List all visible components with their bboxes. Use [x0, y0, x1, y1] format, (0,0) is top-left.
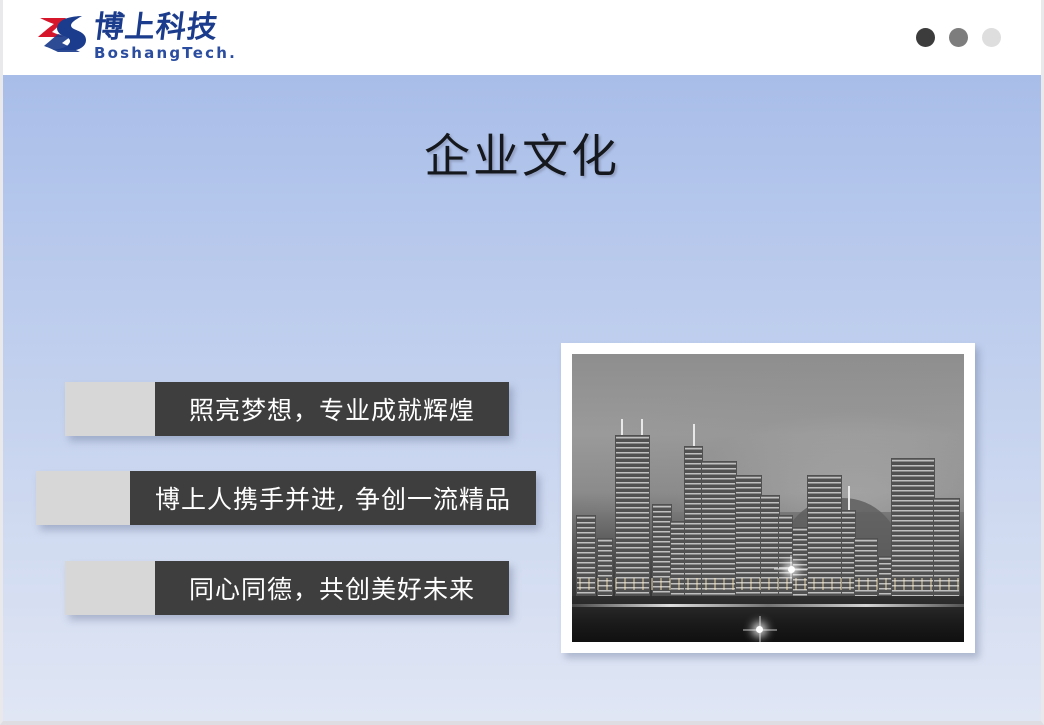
- photo-road-lights: [572, 604, 964, 607]
- slogan-body-3: 同心同德，共创美好未来: [155, 561, 509, 615]
- logo-wordmark: 博上科技 BoshangTech.: [94, 13, 237, 61]
- photo-light-flare: [788, 566, 795, 573]
- company-logo[interactable]: 博上科技 BoshangTech.: [36, 10, 237, 64]
- slogan-text-2: 博上人携手并进, 争创一流精品: [155, 480, 511, 516]
- photo-foreground: [572, 596, 964, 642]
- slogan-body-1: 照亮梦想，专业成就辉煌: [155, 382, 509, 436]
- slogan-accent-block-2: [36, 471, 130, 525]
- building-spire: [848, 486, 850, 510]
- building-spire: [693, 424, 695, 446]
- slogan-text-1: 照亮梦想，专业成就辉煌: [189, 391, 475, 427]
- slogan-bar-2: 博上人携手并进, 争创一流精品: [36, 471, 536, 525]
- dot-light-icon: [982, 28, 1001, 47]
- building-spire: [641, 419, 643, 435]
- logo-company-name-en: BoshangTech.: [94, 46, 237, 61]
- dot-dark-icon: [916, 28, 935, 47]
- slogan-bar-3: 同心同德，共创美好未来: [65, 561, 509, 615]
- slogan-accent-block-3: [65, 561, 155, 615]
- photo-streetlights: [572, 578, 964, 590]
- header-dot-group: [916, 28, 1001, 47]
- slogan-accent-block-1: [65, 382, 155, 436]
- presentation-slide: 博上科技 BoshangTech. 企业文化 照亮梦想，专业成就辉煌 博上人携手…: [0, 0, 1044, 725]
- dot-medium-icon: [949, 28, 968, 47]
- slogan-body-2: 博上人携手并进, 争创一流精品: [130, 471, 536, 525]
- page-title: 企业文化: [3, 133, 1041, 179]
- boshang-b-logo-icon: [36, 14, 88, 60]
- slide-header: 博上科技 BoshangTech.: [3, 0, 1041, 75]
- slogan-text-3: 同心同德，共创美好未来: [189, 570, 475, 606]
- city-skyline-night-photo: [572, 354, 964, 642]
- building-spire: [621, 419, 623, 435]
- city-skyline-night-photo-frame: [561, 343, 975, 653]
- slogan-bar-1: 照亮梦想，专业成就辉煌: [65, 382, 509, 436]
- logo-company-name-cn: 博上科技: [92, 13, 239, 43]
- slide-body: 企业文化 照亮梦想，专业成就辉煌 博上人携手并进, 争创一流精品 同心同德，共创…: [3, 75, 1041, 721]
